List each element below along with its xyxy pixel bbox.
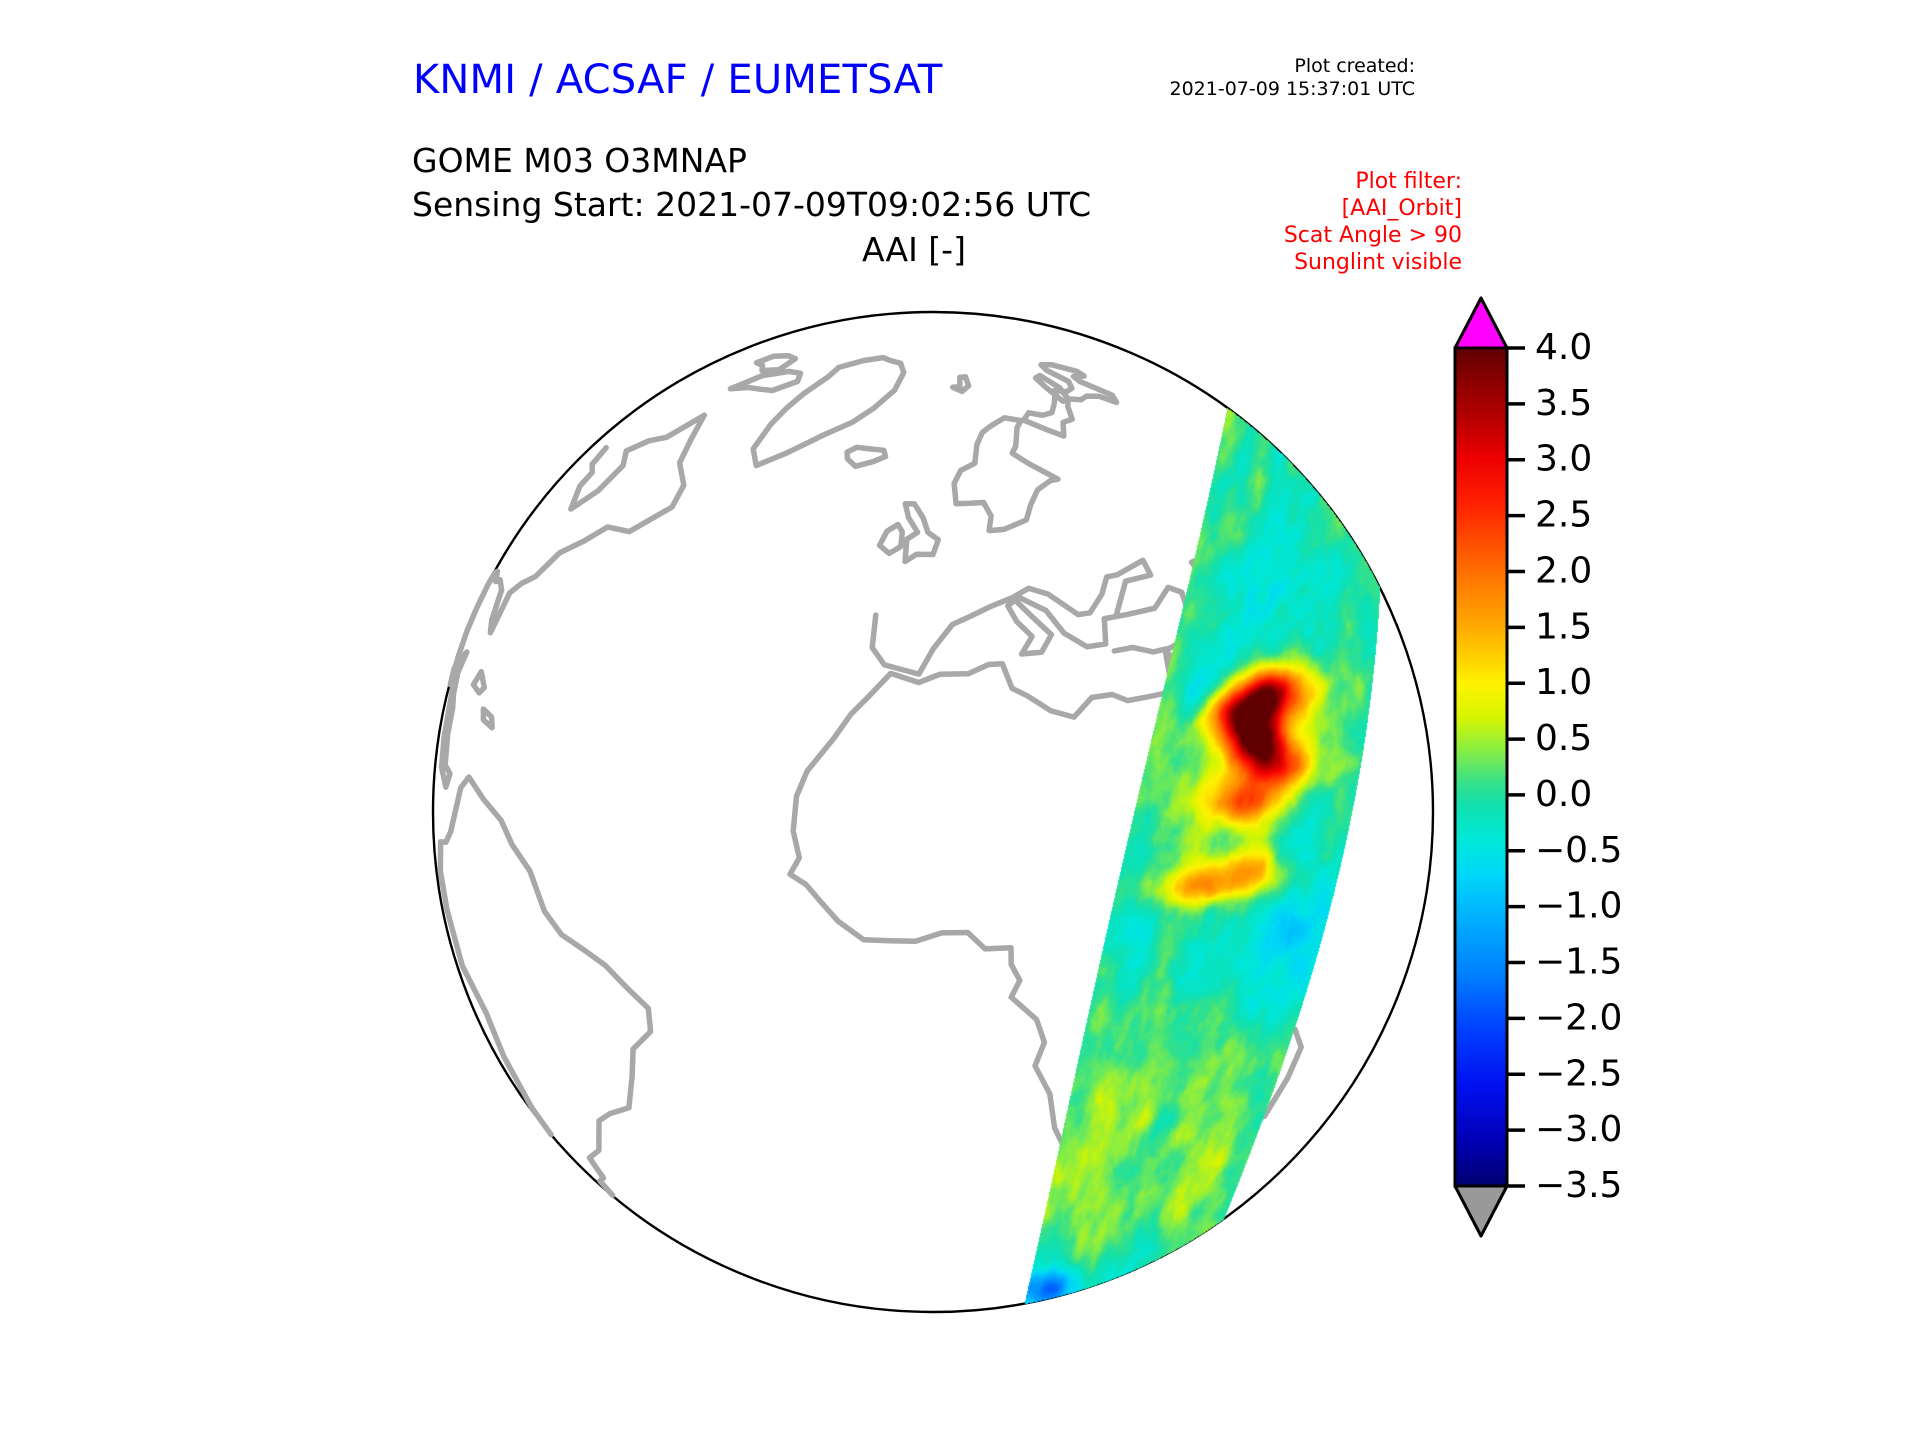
plot-filter-block: Plot filter: [AAI_Orbit] Scat Angle > 90…	[1284, 168, 1462, 276]
colorbar-tick-label: −2.5	[1535, 1053, 1622, 1094]
colorbar-tick-label: −3.5	[1535, 1165, 1622, 1206]
colorbar-tick-label: 0.5	[1535, 718, 1592, 759]
colorbar-tick-label: 2.0	[1535, 550, 1592, 591]
colorbar-tick-label: 1.5	[1535, 606, 1592, 647]
plot-filter-line: Sunglint visible	[1284, 249, 1462, 276]
colorbar-over-arrow	[1455, 298, 1507, 348]
plot-created-label: Plot created:	[1170, 55, 1416, 78]
colorbar-tick-label: 4.0	[1535, 327, 1592, 368]
colorbar-under-arrow	[1455, 1186, 1507, 1236]
aai-swath-raster	[404, 283, 1462, 1341]
colorbar: 4.03.53.02.52.01.51.00.50.0−0.5−1.0−1.5−…	[1443, 288, 1693, 1318]
colorbar-tick-label: −1.0	[1535, 886, 1622, 927]
plot-title-block: GOME M03 O3MNAP Sensing Start: 2021-07-0…	[412, 139, 1091, 227]
colorbar-tick-label: 1.0	[1535, 662, 1592, 703]
colorbar-gradient	[1455, 348, 1507, 1186]
plot-filter-line: [AAI_Orbit]	[1284, 195, 1462, 222]
sensing-start: Sensing Start: 2021-07-09T09:02:56 UTC	[412, 183, 1091, 227]
colorbar-tick-label: 2.5	[1535, 495, 1592, 536]
colorbar-tick-label: 3.0	[1535, 439, 1592, 480]
colorbar-tick-label: 3.5	[1535, 383, 1592, 424]
variable-title: AAI [-]	[862, 230, 966, 269]
plot-created-time: 2021-07-09 15:37:01 UTC	[1170, 78, 1416, 101]
colorbar-vector: 4.03.53.02.52.01.51.00.50.0−0.5−1.0−1.5−…	[1443, 288, 1693, 1318]
colorbar-tick-label: −3.0	[1535, 1109, 1622, 1150]
organisation-banner: KNMI / ACSAF / EUMETSAT	[413, 57, 943, 103]
plot-created-block: Plot created: 2021-07-09 15:37:01 UTC	[1170, 55, 1416, 101]
orthographic-map	[404, 283, 1462, 1341]
colorbar-tick-label: −0.5	[1535, 830, 1622, 871]
colorbar-tick-label: 0.0	[1535, 774, 1592, 815]
colorbar-tick-label: −2.0	[1535, 997, 1622, 1038]
plot-filter-title: Plot filter:	[1284, 168, 1462, 195]
plot-filter-line: Scat Angle > 90	[1284, 222, 1462, 249]
product-name: GOME M03 O3MNAP	[412, 139, 1091, 183]
colorbar-tick-label: −1.5	[1535, 942, 1622, 983]
